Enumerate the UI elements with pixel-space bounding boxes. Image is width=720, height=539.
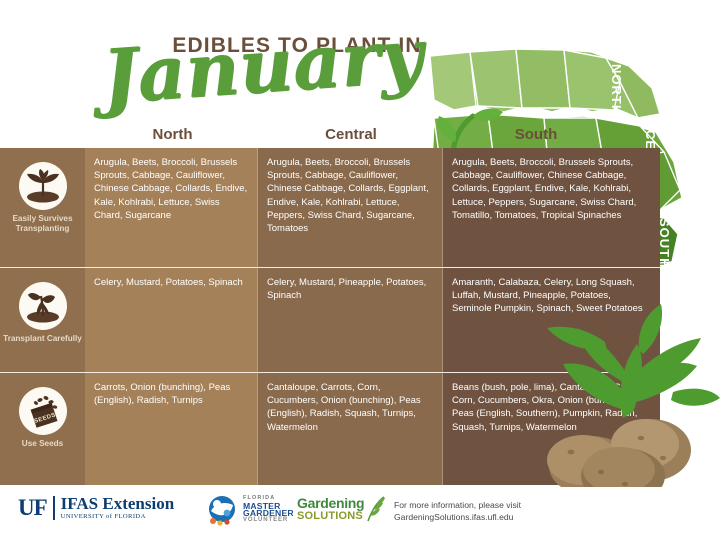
- row-category-label: Easily Survives Transplanting: [3, 214, 83, 233]
- map-region-north: [430, 48, 660, 118]
- cell-north-transplant-carefully: Celery, Mustard, Potatoes, Spinach: [85, 268, 258, 372]
- column-header-south: South: [443, 126, 629, 143]
- more-info-line1: For more information, please visit: [394, 499, 624, 511]
- cell-text: Carrots, Onion (bunching), Peas (English…: [94, 381, 249, 407]
- infographic-root: NORTH CENTRAL SOUTH EDIBLES TO PLANT IN …: [0, 0, 720, 539]
- row-category-label: Use Seeds: [3, 439, 83, 449]
- row-category-label: Transplant Carefully: [3, 334, 83, 344]
- cell-text: Celery, Mustard, Potatoes, Spinach: [94, 276, 249, 289]
- cell-text: Amaranth, Calabaza, Celery, Long Squash,…: [452, 276, 651, 316]
- row-category-transplant-carefully: Transplant Carefully: [0, 268, 85, 372]
- table-row: Easily Survives Transplanting Arugula, B…: [0, 148, 660, 267]
- seedling-icon: [19, 162, 67, 210]
- cell-south-use-seeds: Beans (bush, pole, lima), Cantaloupe, Ca…: [443, 373, 660, 485]
- cell-text: Arugula, Beets, Broccoli, Brussels Sprou…: [267, 156, 434, 235]
- leaf-icon: [364, 496, 386, 522]
- page-title: EDIBLES TO PLANT IN: [132, 34, 462, 58]
- cell-text: Arugula, Beets, Broccoli, Brussels Sprou…: [94, 156, 249, 222]
- gs-logo-line2: SOLUTIONS: [297, 510, 364, 522]
- gardening-solutions-logo: Gardening SOLUTIONS: [297, 496, 386, 522]
- uf-ifas-extension-logo: UF IFAS Extension UNIVERSITY of FLORIDA: [18, 495, 174, 521]
- wilting-plant-icon: [19, 282, 67, 330]
- cell-south-easily-survives: Arugula, Beets, Broccoli, Brussels Sprou…: [443, 148, 660, 267]
- table-row: SEEDS Use Seeds: [0, 373, 660, 485]
- cell-central-use-seeds: Cantaloupe, Carrots, Corn, Cucumbers, On…: [258, 373, 443, 485]
- table-row: Transplant Carefully Celery, Mustard, Po…: [0, 268, 660, 372]
- cell-south-transplant-carefully: Amaranth, Calabaza, Celery, Long Squash,…: [443, 268, 660, 372]
- cell-north-easily-survives: Arugula, Beets, Broccoli, Brussels Sprou…: [85, 148, 258, 267]
- footer: UF IFAS Extension UNIVERSITY of FLORIDA …: [0, 487, 720, 539]
- cell-text: Cantaloupe, Carrots, Corn, Cucumbers, On…: [267, 381, 434, 434]
- cell-text: Beans (bush, pole, lima), Cantaloupe, Ca…: [452, 381, 651, 434]
- column-header-north: North: [85, 126, 260, 143]
- row-category-easily-survives-transplanting: Easily Survives Transplanting: [0, 148, 85, 267]
- gs-logo-line1: Gardening: [297, 496, 364, 510]
- mg-logo-line4: VOLUNTEER: [243, 517, 294, 524]
- more-info-line2: GardeningSolutions.ifas.ufl.edu: [394, 511, 624, 523]
- seed-packet-icon: SEEDS: [19, 387, 67, 435]
- column-divider: [442, 148, 443, 485]
- cell-text: Arugula, Beets, Broccoli, Brussels Sprou…: [452, 156, 651, 222]
- planting-table: Easily Survives Transplanting Arugula, B…: [0, 148, 660, 485]
- cell-north-use-seeds: Carrots, Onion (bunching), Peas (English…: [85, 373, 258, 485]
- uf-logo-line1: IFAS Extension: [61, 495, 175, 512]
- more-info-text: For more information, please visit Garde…: [394, 499, 624, 523]
- column-divider: [257, 148, 258, 485]
- mg-logo-line3: GARDENER: [243, 510, 294, 517]
- uf-monogram: UF: [18, 495, 47, 521]
- master-gardener-emblem-icon: [205, 493, 239, 527]
- cell-central-transplant-carefully: Celery, Mustard, Pineapple, Potatoes, Sp…: [258, 268, 443, 372]
- map-label-north: NORTH: [609, 64, 624, 115]
- master-gardener-volunteer-logo: FLORIDA MASTER GARDENER VOLUNTEER: [205, 493, 294, 527]
- uf-logo-line2: UNIVERSITY of FLORIDA: [61, 512, 175, 521]
- cell-central-easily-survives: Arugula, Beets, Broccoli, Brussels Sprou…: [258, 148, 443, 267]
- column-header-central: Central: [258, 126, 444, 143]
- row-category-use-seeds: SEEDS Use Seeds: [0, 373, 85, 485]
- cell-text: Celery, Mustard, Pineapple, Potatoes, Sp…: [267, 276, 434, 302]
- logo-divider: [53, 496, 55, 520]
- table-header-row: North Central South: [0, 126, 660, 148]
